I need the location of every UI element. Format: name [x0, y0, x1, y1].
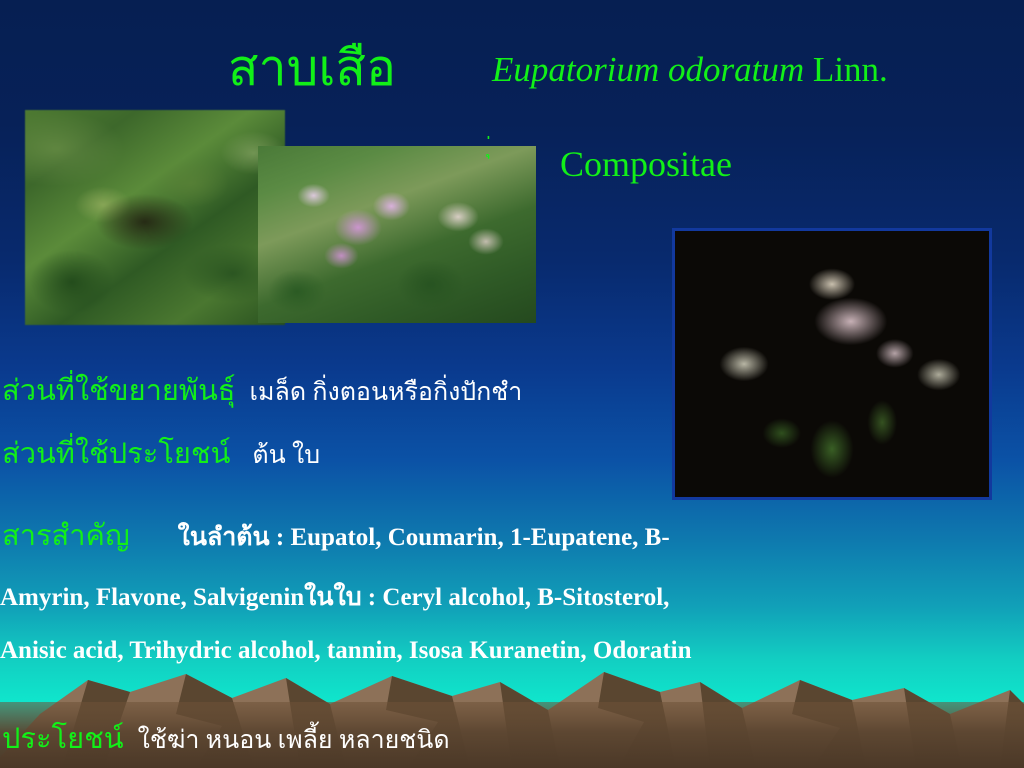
chem-continuation-line-2: Amyrin, Flavone, Salvigeninในใบ : Ceryl …	[0, 577, 669, 617]
photo-pink-flowers	[258, 146, 536, 323]
row-active-compounds: สารสำคัญในลำต้น : Eupatol, Coumarin, 1-E…	[2, 512, 670, 558]
row-benefit: ประโยชน์ใช้ฆ่า หนอน เพลี้ย หลายชนิด	[2, 715, 450, 761]
photo-plant-seedheads	[25, 110, 285, 325]
row-propagation-value: เมล็ด กิ่งตอนหรือกิ่งปักชำ	[236, 379, 523, 406]
row-useful-parts-label: ส่วนที่ใช้ประโยชน์	[2, 438, 230, 470]
slide-canvas: สาบเสือ Eupatorium odoratum Linn. ุ่ Com…	[0, 0, 1024, 768]
row-propagation-label: ส่วนที่ใช้ขยายพันธุ์	[2, 375, 236, 407]
row-active-compounds-value: ในลำต้น : Eupatol, Coumarin, 1-Eupatene,…	[130, 524, 670, 551]
page-title-thai: สาบเสือ	[228, 29, 396, 108]
row-propagation: ส่วนที่ใช้ขยายพันธุ์เมล็ด กิ่งตอนหรือกิ่…	[2, 367, 522, 413]
page-title-latin: Eupatorium odoratum Linn.	[492, 50, 888, 90]
chem-continuation-line-3: Anisic acid, Trihydric alcohol, tannin, …	[0, 637, 692, 665]
species-author	[804, 50, 813, 89]
photo-black-background	[672, 228, 992, 500]
row-useful-parts: ส่วนที่ใช้ประโยชน์ต้น ใบ	[2, 430, 320, 476]
species-author-text: Linn.	[813, 50, 888, 89]
species-name: Eupatorium odoratum	[492, 50, 804, 89]
row-benefit-value: ใช้ฆ่า หนอน เพลี้ย หลายชนิด	[124, 727, 450, 754]
family-name: Compositae	[560, 143, 732, 185]
photo-black-background-content	[675, 231, 989, 497]
row-benefit-label: ประโยชน์	[2, 723, 124, 755]
row-useful-parts-value: ต้น ใบ	[230, 442, 320, 469]
row-active-compounds-label: สารสำคัญ	[2, 520, 130, 552]
